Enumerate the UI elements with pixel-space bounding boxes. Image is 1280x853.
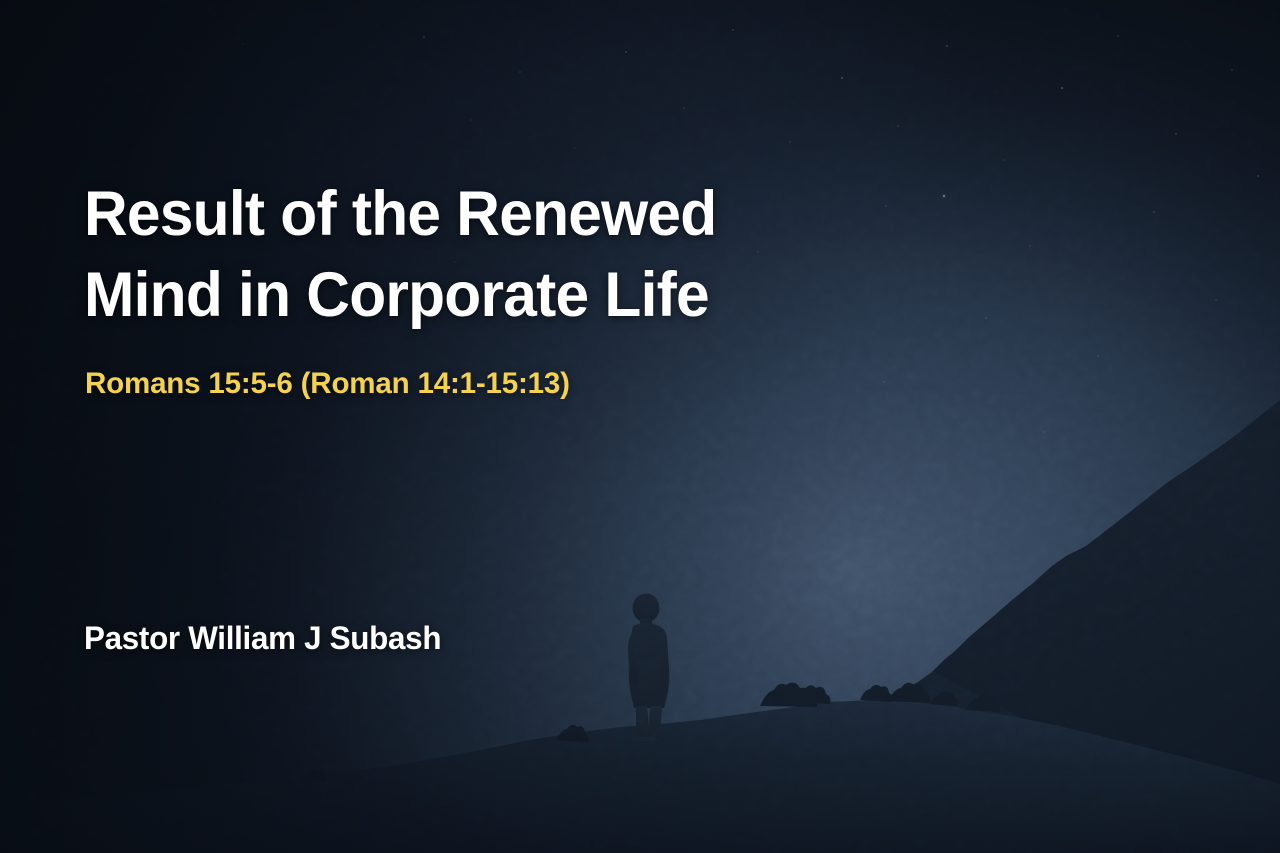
background-stars bbox=[0, 0, 1280, 853]
background-sky-gradient bbox=[0, 0, 1280, 853]
sermon-title-slide: Result of the Renewed Mind in Corporate … bbox=[0, 0, 1280, 853]
slide-text-content: Result of the Renewed Mind in Corporate … bbox=[0, 0, 1280, 853]
slide-title-line-1: Result of the Renewed bbox=[84, 174, 929, 255]
speaker-name: Pastor William J Subash bbox=[84, 617, 441, 659]
foreground-shrubs bbox=[300, 683, 1001, 782]
mountain-ridge-lower bbox=[870, 672, 1280, 853]
background-nebula-glow bbox=[0, 0, 1280, 853]
slide-title-line-2: Mind in Corporate Life bbox=[84, 255, 929, 336]
scripture-reference: Romans 15:5-6 (Roman 14:1-15:13) bbox=[85, 364, 570, 404]
foreground-ground bbox=[0, 700, 1280, 853]
slide-title: Result of the Renewed Mind in Corporate … bbox=[84, 174, 964, 336]
background-text-scrim bbox=[0, 0, 1280, 853]
landscape-silhouette bbox=[0, 0, 1280, 853]
mountain-ridge bbox=[932, 400, 1280, 853]
person-silhouette bbox=[628, 594, 669, 744]
background-grain-texture bbox=[0, 0, 1280, 853]
background-vignette bbox=[0, 0, 1280, 853]
